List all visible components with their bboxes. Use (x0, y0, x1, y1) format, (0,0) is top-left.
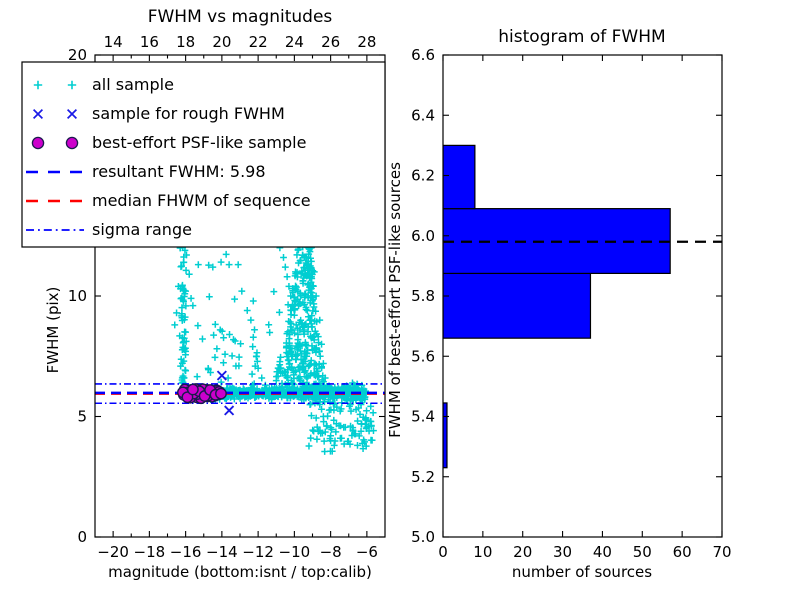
all-sample-point (236, 354, 243, 361)
all-sample-point (258, 375, 265, 382)
all-sample-point (231, 296, 238, 303)
all-sample-point (312, 361, 319, 368)
x-tick-label: −10 (279, 543, 311, 561)
hist-x-tick-label: 30 (553, 543, 572, 561)
hist-y-tick-label: 6.6 (411, 46, 435, 64)
hist-y-tick-label: 5.6 (411, 347, 435, 365)
right-panel-title: histogram of FWHM (498, 27, 665, 47)
hist-x-tick-label: 0 (438, 543, 448, 561)
all-sample-point (368, 437, 375, 444)
right-xaxis-labels: 010203040506070 (438, 543, 731, 561)
legend-frame (22, 62, 385, 247)
x-tick-label-top: 26 (321, 33, 340, 51)
x-tick-label-top: 24 (285, 33, 304, 51)
left-yaxis-title: FWHM (pix) (44, 287, 62, 374)
all-sample-point (291, 312, 298, 319)
legend-item-label: resultant FWHM: 5.98 (92, 162, 266, 181)
all-sample-point (331, 442, 338, 449)
all-sample-point (294, 252, 301, 259)
x-tick-label-top: 14 (104, 33, 123, 51)
hist-y-tick-label: 5.2 (411, 468, 435, 486)
left-xaxis-bottom-labels: −20−18−16−14−12−10−8−6 (97, 543, 378, 561)
y-tick-label: 0 (77, 528, 87, 546)
all-sample-point (282, 264, 289, 271)
all-sample-point (277, 354, 284, 361)
x-tick-label: −14 (206, 543, 238, 561)
all-sample-point (324, 423, 331, 430)
hist-y-tick-label: 6.0 (411, 227, 435, 245)
y-tick-label: 10 (68, 287, 87, 305)
hist-x-tick-label: 20 (513, 543, 532, 561)
left-xaxis-title: magnitude (bottom:isnt / top:calib) (108, 563, 372, 581)
all-sample-point (212, 354, 219, 361)
legend-circle-icon (32, 137, 43, 148)
x-tick-label-top: 28 (357, 33, 376, 51)
hist-y-tick-label: 6.4 (411, 106, 435, 124)
all-sample-point (218, 259, 225, 266)
matplotlib-figure: FWHM vs magnitudes −20−18−16−14−12−10−8−… (0, 0, 800, 600)
all-sample-point (212, 321, 219, 328)
all-sample-point (213, 345, 220, 352)
all-sample-point (306, 443, 313, 450)
right-xaxis-title: number of sources (512, 563, 652, 581)
all-sample-point (249, 343, 256, 350)
all-sample-point (250, 334, 257, 341)
all-sample-point (188, 295, 195, 302)
all-sample-point (235, 261, 242, 268)
histogram-bar (443, 273, 590, 338)
hist-x-tick-label: 70 (712, 543, 731, 561)
all-sample-point (285, 357, 292, 364)
all-sample-point (307, 435, 314, 442)
hist-x-tick-label: 50 (633, 543, 652, 561)
legend-box: all samplesample for rough FWHMbest-effo… (22, 62, 385, 247)
right-yaxis-labels: 5.05.25.45.65.86.06.26.46.6 (411, 46, 435, 546)
x-tick-label: −20 (97, 543, 129, 561)
all-sample-point (226, 261, 233, 268)
all-sample-point (229, 352, 236, 359)
x-tick-label-top: 16 (140, 33, 159, 51)
right-yaxis-title: FWHM of best-effort PSF-like sources (386, 162, 404, 438)
all-sample-point (249, 371, 256, 378)
legend-item-label: sigma range (92, 220, 192, 239)
y-tick-label: 5 (77, 408, 87, 426)
all-sample-points (171, 218, 377, 455)
hist-x-tick-label: 40 (593, 543, 612, 561)
right-panel: histogram of FWHM 010203040506070 5.05.2… (386, 27, 732, 581)
x-tick-label: −12 (242, 543, 274, 561)
hist-y-tick-label: 6.2 (411, 167, 435, 185)
hist-y-tick-label: 5.0 (411, 528, 435, 546)
all-sample-point (280, 254, 287, 261)
all-sample-point (348, 408, 355, 415)
left-panel-title: FWHM vs magnitudes (148, 7, 333, 27)
all-sample-point (222, 351, 229, 358)
x-tick-label-top: 18 (176, 33, 195, 51)
psf-like-sample-points (178, 384, 226, 404)
hist-x-tick-label: 60 (673, 543, 692, 561)
all-sample-point (317, 353, 324, 360)
hist-y-tick-label: 5.8 (411, 287, 435, 305)
y-tick-label: 20 (68, 46, 87, 64)
all-sample-point (270, 288, 277, 295)
all-sample-point (370, 409, 377, 416)
all-sample-point (265, 321, 272, 328)
rough-fwhm-point (217, 371, 226, 380)
all-sample-point (171, 322, 178, 329)
all-sample-point (320, 413, 327, 420)
all-sample-point (182, 329, 189, 336)
x-tick-label-top: 22 (249, 33, 268, 51)
histogram-bar (443, 145, 475, 208)
legend-item-label: best-effort PSF-like sample (92, 133, 306, 152)
all-sample-point (276, 309, 283, 316)
all-sample-point (284, 273, 291, 280)
figure-canvas: FWHM vs magnitudes −20−18−16−14−12−10−8−… (0, 0, 800, 600)
all-sample-point (244, 307, 251, 314)
left-xaxis-top-labels: 1416182022242628 (104, 33, 377, 51)
all-sample-point (304, 307, 311, 314)
legend-circle-icon (66, 137, 77, 148)
all-sample-point (250, 298, 257, 305)
x-tick-label: −8 (320, 543, 342, 561)
psf-like-point (216, 388, 226, 398)
all-sample-point (220, 359, 227, 366)
hist-x-tick-label: 10 (473, 543, 492, 561)
psf-like-point (188, 384, 198, 394)
hist-y-tick-label: 5.4 (411, 408, 435, 426)
x-tick-label-top: 20 (212, 33, 231, 51)
all-sample-point (338, 435, 345, 442)
rough-fwhm-point (225, 406, 234, 415)
all-sample-point (251, 326, 258, 333)
all-sample-point (195, 261, 202, 268)
histogram-area (443, 145, 670, 467)
legend-item-label: median FHWM of sequence (92, 191, 311, 210)
x-tick-label: −6 (356, 543, 378, 561)
x-tick-label: −18 (134, 543, 166, 561)
all-sample-point (266, 329, 273, 336)
all-sample-point (253, 353, 260, 360)
all-sample-point (189, 302, 196, 309)
all-sample-point (223, 251, 230, 258)
all-sample-point (210, 332, 217, 339)
histogram-bars (443, 145, 670, 467)
all-sample-point (220, 334, 227, 341)
all-sample-point (194, 322, 201, 329)
all-sample-point (199, 336, 206, 343)
all-sample-point (310, 428, 317, 435)
all-sample-point (314, 436, 321, 443)
all-sample-point (363, 407, 370, 414)
all-sample-point (206, 293, 213, 300)
legend-item-label: all sample (92, 75, 174, 94)
all-sample-point (247, 317, 254, 324)
all-sample-point (194, 373, 201, 380)
all-sample-point (186, 271, 193, 278)
legend-item-label: sample for rough FWHM (92, 104, 285, 123)
all-sample-point (226, 331, 233, 338)
all-sample-point (183, 267, 190, 274)
x-tick-label: −16 (170, 543, 202, 561)
all-sample-point (238, 288, 245, 295)
left-scatter-area (95, 218, 385, 455)
